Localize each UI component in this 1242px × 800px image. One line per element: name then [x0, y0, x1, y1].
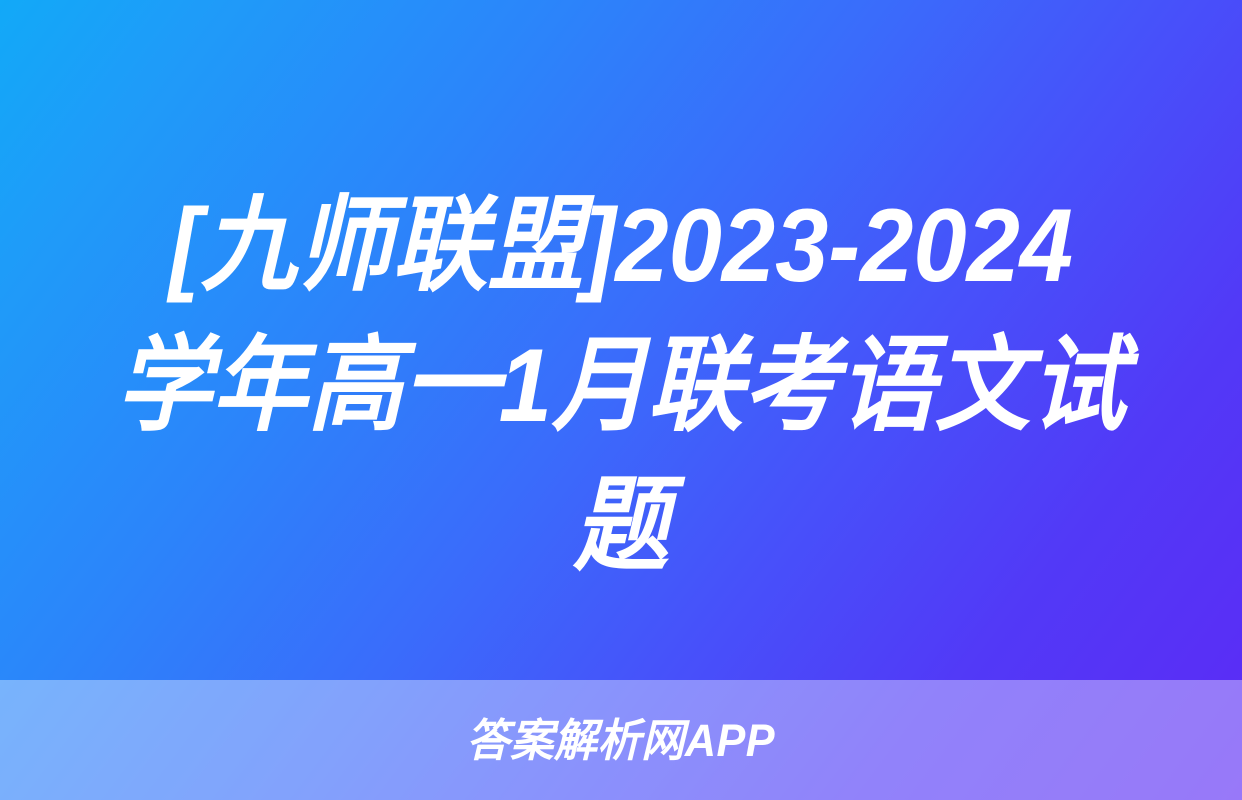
watermark-label: 答案解析网APP	[467, 718, 776, 763]
title-line-2: 学年高一1月联考语文试	[105, 316, 1137, 456]
poster-title: [九师联盟]2023-2024 学年高一1月联考语文试 题	[0, 176, 1242, 596]
watermark-band: 答案解析网APP	[0, 680, 1242, 800]
title-line-3: 题	[105, 456, 1137, 596]
poster-canvas: [九师联盟]2023-2024 学年高一1月联考语文试 题 答案解析网APP	[0, 0, 1242, 800]
title-line-1: [九师联盟]2023-2024	[105, 176, 1137, 316]
